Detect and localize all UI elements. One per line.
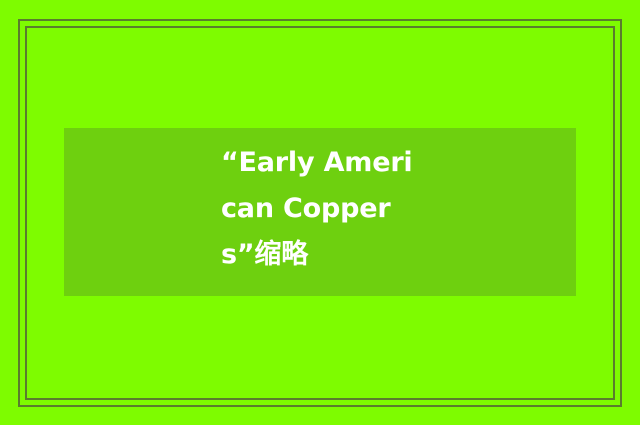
image-canvas: “Early American Coppers”缩略: [0, 0, 640, 425]
caption-panel: “Early American Coppers”缩略: [64, 128, 576, 296]
caption-text: “Early American Coppers”缩略: [221, 140, 419, 278]
